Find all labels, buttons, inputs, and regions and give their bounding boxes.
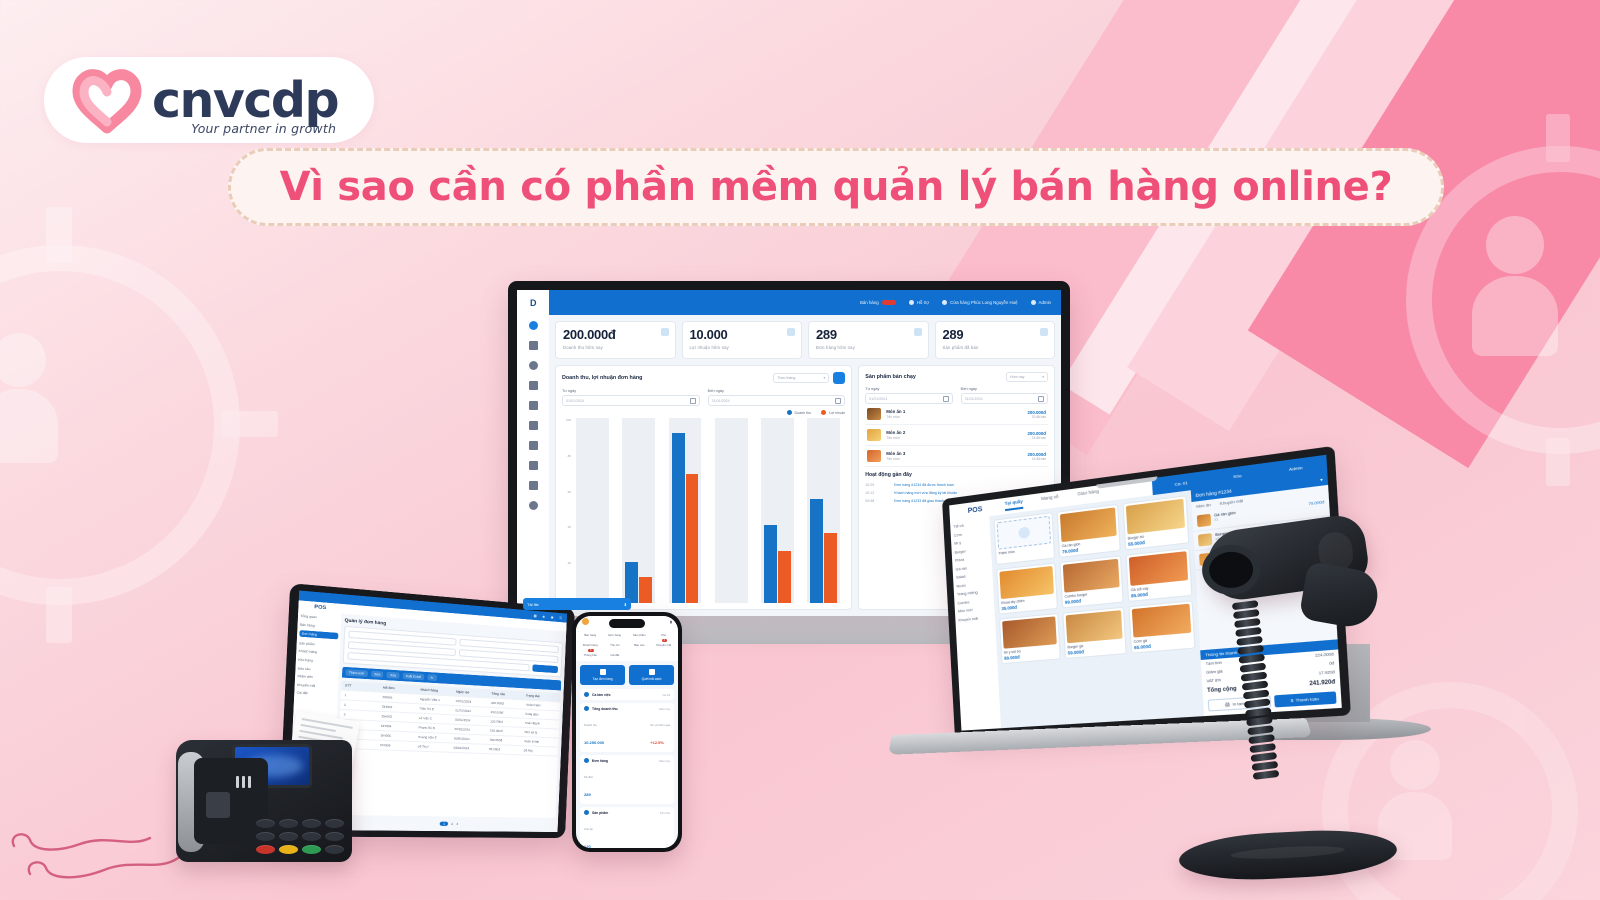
cancel-key[interactable] bbox=[256, 845, 275, 854]
activity-text: Khách hàng mới vừa đăng ký tài khoản bbox=[894, 491, 957, 495]
scanner-handle bbox=[1299, 561, 1382, 631]
shortcut-cài-đặt[interactable]: Cài đặt bbox=[604, 651, 627, 657]
header-item-sales-label: Bán hàng bbox=[860, 300, 879, 305]
table-cell: DH005 bbox=[381, 733, 416, 739]
chart-period-value: Theo tháng bbox=[777, 376, 795, 380]
to-input[interactable]: 31/01/2024 bbox=[708, 395, 846, 406]
toolbar-in[interactable]: In bbox=[427, 674, 436, 681]
toolbar-thêm-mới[interactable]: Thêm mới bbox=[345, 669, 367, 677]
product-card[interactable]: Mì ý sốt bò89.000đ bbox=[999, 613, 1061, 664]
column-header: Tổng tiền bbox=[491, 692, 524, 698]
product-thumbnail bbox=[867, 408, 881, 420]
key[interactable] bbox=[256, 832, 275, 841]
header-item-sales[interactable]: Bán hàng bbox=[860, 300, 896, 305]
card-meta: Ca 01 bbox=[663, 693, 670, 697]
table-cell: 120.000đ bbox=[490, 719, 523, 725]
chart-controls: Theo tháng ▾ bbox=[773, 372, 845, 384]
bar-doanh-thu bbox=[810, 499, 823, 603]
pos-category-mì-ý[interactable]: Mì ý bbox=[954, 538, 988, 546]
summary-card[interactable]: Sản phẩmTồn khoCòn lại120 bbox=[580, 807, 674, 848]
box-icon bbox=[1040, 328, 1048, 336]
list-date-from: Từ ngày 01/01/2024 bbox=[865, 387, 952, 404]
bar-group bbox=[571, 418, 614, 603]
terminal-keypad[interactable] bbox=[256, 819, 344, 854]
table-cell: Hoàn thành bbox=[525, 721, 557, 727]
product-card[interactable]: Combo burger99.000đ bbox=[1059, 555, 1123, 608]
product-card[interactable]: Khoai tây chiên35.000đ bbox=[996, 563, 1058, 615]
legend-label: Lợi nhuận bbox=[829, 411, 845, 415]
pos-user[interactable]: Admin bbox=[1289, 464, 1303, 471]
table-cell: Hoàng Văn E bbox=[418, 735, 452, 741]
table-cell: Phạm Thị D bbox=[418, 725, 452, 731]
card-header: Sản phẩmTồn kho bbox=[584, 810, 670, 815]
bar-doanh-thu bbox=[764, 525, 777, 603]
from-input[interactable]: 01/01/2024 bbox=[865, 393, 952, 404]
table-cell: 450.000đ bbox=[491, 710, 524, 716]
shortcut-label: Thu chi bbox=[604, 643, 627, 647]
phone-card-list: Ca làm việcCa 01Tổng doanh thuHôm nayDoa… bbox=[576, 689, 678, 848]
sidebar-item-orders[interactable] bbox=[529, 341, 538, 350]
refresh-icon[interactable] bbox=[833, 372, 845, 384]
table-cell: 01/01/2024 bbox=[455, 708, 488, 714]
table-cell: DH003 bbox=[382, 714, 417, 720]
product-thumbnail bbox=[867, 429, 881, 441]
chevron-down-icon: ▾ bbox=[1042, 375, 1044, 379]
add-product-card[interactable]: Thêm món bbox=[994, 512, 1056, 565]
product-qty: 18 đã bán bbox=[1027, 436, 1046, 440]
battery-icon: ▮ bbox=[670, 620, 672, 624]
card-title: Đơn hàng bbox=[584, 758, 608, 763]
key[interactable] bbox=[279, 819, 298, 828]
topbar-icon[interactable]: ☰ bbox=[559, 615, 562, 619]
profit-icon bbox=[787, 328, 795, 336]
admin-nav-sản-phẩm[interactable]: Sản phẩm bbox=[299, 641, 338, 648]
product-info: Món ăn 1 Tên món bbox=[886, 409, 1022, 419]
clock-icon bbox=[909, 300, 914, 305]
shortcut-label: Sản phẩm bbox=[628, 633, 651, 637]
pos-store[interactable]: Kho bbox=[1233, 472, 1242, 479]
sidebar-item-settings[interactable] bbox=[529, 481, 538, 490]
key[interactable] bbox=[302, 819, 321, 828]
table-cell: Lê Văn C bbox=[419, 716, 453, 722]
product-price: 200.000đ bbox=[1027, 410, 1046, 415]
pos-category-tất-cả[interactable]: Tất cả bbox=[953, 521, 987, 529]
chart-date-to: Đến ngày 31/01/2024 bbox=[708, 389, 846, 406]
table-cell: Chờ xử lý bbox=[524, 730, 556, 735]
product-thumbnail bbox=[867, 450, 881, 462]
pos-category-khuyến-mãi[interactable]: Khuyến mãi bbox=[958, 615, 992, 622]
clear-key[interactable] bbox=[279, 845, 298, 854]
product-price: 200.000đ bbox=[1027, 431, 1046, 436]
activity-time: 09:58 bbox=[865, 499, 889, 503]
shortcut-khuyến-mãi[interactable]: Khuyến mãi3 bbox=[653, 641, 676, 647]
product-qty: 15 đã bán bbox=[1027, 457, 1046, 461]
from-value: 01/01/2024 bbox=[869, 397, 887, 401]
tab-mang-ve[interactable]: Mang về bbox=[1041, 494, 1059, 507]
store-icon bbox=[942, 300, 947, 305]
legend-item-revenue: Doanh thu bbox=[787, 410, 812, 415]
product-image bbox=[1002, 616, 1057, 648]
page-3[interactable]: 3 bbox=[456, 822, 458, 826]
admin-nav-kho-hàng[interactable]: Kho hàng bbox=[298, 657, 337, 664]
kpi-label: Đơn hàng hôm nay bbox=[816, 345, 921, 350]
column-header: Mã đơn bbox=[383, 685, 418, 691]
table-cell: Nguyễn Văn A bbox=[419, 697, 453, 703]
page-1[interactable]: 1 bbox=[440, 822, 448, 826]
table-cell: Vũ Thị F bbox=[417, 744, 451, 749]
pos-category-nước[interactable]: Nước bbox=[956, 580, 990, 588]
product-sub: Tên món bbox=[886, 415, 1022, 419]
header-item-support-label: Hỗ trợ bbox=[917, 300, 929, 305]
scanner-gooseneck bbox=[1232, 600, 1280, 787]
pos-category-món-mới[interactable]: Món mới bbox=[958, 606, 992, 613]
key[interactable] bbox=[302, 832, 321, 841]
sidebar-item-store[interactable] bbox=[529, 381, 538, 390]
product-card[interactable]: Burger bò55.000đ bbox=[1122, 495, 1189, 550]
shortcut-label: Khách hàng bbox=[579, 643, 602, 647]
pos-category-combo[interactable]: Combo bbox=[957, 598, 991, 605]
kpi-value: 289 bbox=[816, 327, 921, 342]
to-label: Đến ngày bbox=[961, 387, 1048, 391]
product-metrics: 200.000đ 18 đã bán bbox=[1027, 431, 1046, 440]
pos-product-grid: Thêm mónGà rán giòn79.000đBurger bò55.00… bbox=[989, 490, 1204, 728]
confirm-key[interactable] bbox=[302, 845, 321, 854]
chart-period-select[interactable]: Theo tháng ▾ bbox=[773, 373, 829, 383]
dashboard-logo[interactable]: D bbox=[517, 290, 549, 315]
chart-plot-area bbox=[571, 418, 845, 603]
card-header: Ca làm việcCa 01 bbox=[584, 692, 670, 697]
table-cell: 02/01/2024 bbox=[454, 727, 487, 733]
table-cell: DH002 bbox=[382, 705, 417, 711]
list-period-value: Hôm nay bbox=[1010, 375, 1024, 379]
pos-shift[interactable]: Ca: 01 bbox=[1174, 479, 1188, 486]
kpi-label: Lợi nhuận hôm nay bbox=[690, 345, 795, 350]
shortcut-label: Khuyến mãi bbox=[653, 643, 676, 647]
calendar-icon bbox=[943, 396, 949, 402]
sidebar-item-promotion[interactable] bbox=[529, 461, 538, 470]
table-cell: 02/01/2024 bbox=[455, 718, 488, 724]
table-cell: 01/01/2024 bbox=[456, 699, 489, 705]
table-cell: 310.000đ bbox=[490, 728, 523, 733]
table-cell: 95.000đ bbox=[489, 747, 522, 752]
card-metrics: Số đơn289 bbox=[584, 765, 670, 801]
topbar-icon[interactable]: ▦ bbox=[534, 613, 537, 617]
key[interactable] bbox=[325, 832, 344, 841]
to-input[interactable]: 31/01/2024 bbox=[961, 393, 1048, 404]
product-qty: 20 đã bán bbox=[1027, 415, 1046, 419]
smartphone-device: 10:24 ▮ Bán hàngĐơn hàngSản phẩmKhoKhách… bbox=[572, 612, 682, 852]
summary-card[interactable]: Tổng doanh thuHôm nayDoanh thu10.250.000… bbox=[580, 703, 674, 752]
pos-category-salad[interactable]: Salad bbox=[956, 572, 990, 580]
bar-group bbox=[663, 418, 706, 603]
download-button[interactable]: Tải file ⬇ bbox=[549, 598, 631, 610]
toolbar-xóa[interactable]: Xóa bbox=[387, 672, 400, 679]
cart-icon bbox=[882, 300, 896, 305]
shortcut-kho[interactable]: Kho bbox=[653, 631, 676, 637]
product-image bbox=[1126, 499, 1185, 535]
to-value: 31/01/2024 bbox=[965, 397, 983, 401]
bar-group bbox=[802, 418, 845, 603]
product-info: Món ăn 3 Tên món bbox=[886, 451, 1022, 461]
scan-barcode-label: Quét mã vạch bbox=[642, 677, 662, 681]
column-header: Khách hàng bbox=[420, 687, 454, 693]
table-cell: Hoàn thành bbox=[525, 703, 557, 709]
kpi-card-orders: 289 Đơn hàng hôm nay bbox=[808, 321, 929, 359]
product-sub: Tên món bbox=[886, 436, 1022, 440]
list-title: Sản phẩm bán chạy bbox=[865, 374, 916, 380]
sidebar-item-dashboard[interactable] bbox=[529, 321, 538, 330]
admin-nav-khuyến-mãi[interactable]: Khuyến mãi bbox=[297, 682, 336, 689]
list-period-select[interactable]: Hôm nay ▾ bbox=[1006, 372, 1048, 382]
create-order-button[interactable]: Tạo đơn hàng bbox=[580, 665, 625, 685]
calendar-icon bbox=[835, 398, 841, 404]
from-input[interactable]: 01/01/2024 bbox=[562, 395, 700, 406]
product-row[interactable]: Món ăn 3 Tên món 200.000đ 15 đã bán bbox=[865, 446, 1048, 467]
table-cell: 780.000đ bbox=[489, 738, 522, 743]
product-row[interactable]: Món ăn 2 Tên món 200.000đ 18 đã bán bbox=[865, 425, 1048, 446]
shortcut-label: Cài đặt bbox=[604, 653, 627, 657]
table-cell: 03/01/2024 bbox=[454, 736, 487, 741]
bar-doanh-thu bbox=[625, 562, 638, 603]
card-title: Ca làm việc bbox=[584, 692, 611, 697]
kpi-card-profit: 10.000 Lợi nhuận hôm nay bbox=[682, 321, 803, 359]
header-item-store[interactable]: Cửa hàng Phúc Long Nguyễn Huệ bbox=[942, 300, 1017, 305]
phone-bezel: 10:24 ▮ Bán hàngĐơn hàngSản phẩmKhoKhách… bbox=[572, 612, 682, 852]
card-header: Đơn hàngHôm nay bbox=[584, 758, 670, 763]
admin-nav-đơn-hàng[interactable]: Đơn hàng bbox=[299, 630, 338, 639]
chevron-down-icon[interactable]: ▾ bbox=[1320, 477, 1323, 483]
chevron-down-icon: ▾ bbox=[823, 376, 825, 380]
legend-item-profit: Lợi nhuận bbox=[821, 410, 845, 415]
plus-icon bbox=[600, 669, 606, 675]
phone-action-buttons: Tạo đơn hàng Quét mã vạch bbox=[576, 661, 678, 689]
table-cell: DH006 bbox=[380, 743, 415, 749]
kpi-row: 200.000đ Doanh thu hôm nay 10.000 Lợi nh… bbox=[555, 321, 1055, 359]
shortcut-đơn-hàng[interactable]: Đơn hàng bbox=[604, 631, 627, 637]
table-cell: Trần Thị B bbox=[419, 706, 453, 712]
product-card[interactable]: Burger gà59.000đ bbox=[1062, 607, 1126, 659]
activity-time: 10:25 bbox=[865, 483, 889, 487]
dashboard-topbar: D Bán hàng Hỗ trợ bbox=[517, 290, 1061, 315]
kpi-label: Doanh thu hôm nay bbox=[563, 345, 668, 350]
column-header: Trạng thái bbox=[526, 693, 558, 699]
metric-1: Doanh thu10.250.000 bbox=[584, 713, 604, 749]
pos-category-tráng-miệng[interactable]: Tráng miệng bbox=[957, 589, 991, 597]
product-image bbox=[1060, 507, 1117, 542]
bar-lợi-nhuận bbox=[778, 551, 791, 603]
product-card[interactable]: Gà rán giòn79.000đ bbox=[1057, 504, 1121, 558]
metric-2: So với hôm qua+12.5% bbox=[650, 713, 670, 749]
gooseneck-segment bbox=[1253, 770, 1280, 780]
product-image bbox=[1129, 551, 1188, 586]
key[interactable] bbox=[325, 845, 344, 854]
table-cell: DH001 bbox=[382, 695, 417, 701]
admin-nav-bán-hàng[interactable]: Bán hàng bbox=[300, 622, 339, 629]
status-dot-icon bbox=[584, 692, 589, 697]
card-header: Tổng doanh thuHôm nay bbox=[584, 706, 670, 711]
chart-panel-header: Doanh thu, lợi nhuận đơn hàng Theo tháng… bbox=[562, 372, 845, 384]
scan-barcode-button[interactable]: Quét mã vạch bbox=[629, 665, 674, 685]
bar-lợi-nhuận bbox=[686, 474, 699, 604]
bar-chart: 100 80 60 40 20 0 bbox=[562, 418, 845, 603]
admin-nav-cài-đặt[interactable]: Cài đặt bbox=[297, 691, 336, 697]
badge: 5 bbox=[588, 649, 593, 652]
scanner-base bbox=[1178, 826, 1398, 883]
pos-category-cơm[interactable]: Cơm bbox=[954, 529, 988, 537]
kpi-label: Sản phẩm đã bán bbox=[943, 345, 1048, 350]
activity-time: 10:12 bbox=[865, 491, 889, 495]
product-name: Món ăn 2 bbox=[886, 430, 1022, 435]
shortcut-khách-hàng[interactable]: Khách hàng bbox=[579, 641, 602, 647]
shortcut-label: Bán hàng bbox=[579, 633, 602, 637]
from-label: Từ ngày bbox=[562, 389, 700, 393]
phone-screen: 10:24 ▮ Bán hàngĐơn hàngSản phẩmKhoKhách… bbox=[576, 616, 678, 848]
product-image bbox=[1063, 559, 1120, 593]
chart-y-axis: 100 80 60 40 20 0 bbox=[562, 418, 571, 603]
shortcut-thông-báo[interactable]: Thông báo5 bbox=[579, 651, 602, 657]
table-cell: DH004 bbox=[381, 724, 416, 730]
header-item-store-label: Cửa hàng Phúc Long Nguyễn Huệ bbox=[950, 300, 1017, 305]
status-dot-icon bbox=[584, 810, 589, 815]
sidebar-item-reports[interactable] bbox=[529, 401, 538, 410]
tab-tai-quay[interactable]: Tại quầy bbox=[1005, 499, 1024, 512]
sidebar-item-customers[interactable] bbox=[529, 441, 538, 450]
product-card[interactable]: Gà sốt cay85.000đ bbox=[1125, 548, 1192, 603]
toolbar-xuất-excel[interactable]: Xuất Excel bbox=[402, 673, 424, 681]
card-slot-icon bbox=[206, 792, 230, 818]
barcode-icon bbox=[649, 669, 655, 675]
kpi-card-products: 289 Sản phẩm đã bán bbox=[935, 321, 1056, 359]
table-cell: 200.000đ bbox=[491, 701, 524, 707]
key[interactable] bbox=[256, 819, 275, 828]
badge: 3 bbox=[662, 639, 667, 642]
chart-title: Doanh thu, lợi nhuận đơn hàng bbox=[562, 375, 642, 381]
topbar-icon[interactable]: ◈ bbox=[542, 614, 545, 618]
product-name: Món ăn 1 bbox=[886, 409, 1022, 414]
chart-date-from: Từ ngày 01/01/2024 bbox=[562, 389, 700, 406]
summary-card[interactable]: Ca làm việcCa 01 bbox=[580, 689, 674, 700]
dashboard-sidebar bbox=[517, 315, 549, 616]
sidebar-item-inventory[interactable] bbox=[529, 421, 538, 430]
product-metrics: 200.000đ 15 đã bán bbox=[1027, 452, 1046, 461]
topbar-icon[interactable]: ◉ bbox=[551, 615, 554, 619]
table-cell: 03/01/2024 bbox=[454, 746, 487, 751]
admin-nav-nhân-viên[interactable]: Nhân viên bbox=[297, 674, 336, 681]
shortcut-báo-cáo[interactable]: Báo cáo bbox=[628, 641, 651, 647]
to-label: Đến ngày bbox=[708, 389, 846, 393]
shortcut-thu-chi[interactable]: Thu chi bbox=[604, 641, 627, 647]
product-row[interactable]: Món ăn 1 Tên món 200.000đ 20 đã bán bbox=[865, 404, 1048, 425]
admin-nav-báo-cáo[interactable]: Báo cáo bbox=[298, 666, 337, 673]
bar-lợi-nhuận bbox=[639, 577, 652, 603]
tab-giao-hang[interactable]: Giao hàng bbox=[1077, 488, 1099, 501]
summary-card[interactable]: Đơn hàngHôm naySố đơn289 bbox=[580, 755, 674, 804]
dynamic-island bbox=[609, 619, 645, 628]
card-meta: Hôm nay bbox=[659, 759, 670, 763]
bar-group bbox=[756, 418, 799, 603]
pos-category-pizza[interactable]: Pizza bbox=[955, 555, 989, 563]
table-cell: Đã hủy bbox=[523, 748, 555, 753]
scanner-window bbox=[1201, 544, 1261, 596]
product-image bbox=[999, 566, 1054, 599]
list-date-to: Đến ngày 31/01/2024 bbox=[961, 387, 1048, 404]
column-header: Ngày tạo bbox=[456, 689, 489, 695]
product-image bbox=[1132, 604, 1191, 638]
orders-icon bbox=[914, 328, 922, 336]
phone-shortcut-grid: Bán hàngĐơn hàngSản phẩmKhoKhách hàngThu… bbox=[576, 627, 678, 661]
admin-nav-tổng-quan[interactable]: Tổng quan bbox=[300, 614, 339, 621]
toolbar-sửa[interactable]: Sửa bbox=[371, 671, 384, 678]
create-order-label: Tạo đơn hàng bbox=[593, 677, 613, 681]
user-icon bbox=[1031, 300, 1036, 305]
list-panel-header: Sản phẩm bán chạy Hôm nay ▾ bbox=[865, 372, 1048, 382]
chart-legend: Doanh thu Lợi nhuận bbox=[562, 410, 845, 415]
download-icon: ⬇ bbox=[624, 602, 627, 607]
sidebar-item-products[interactable] bbox=[529, 361, 538, 370]
status-dot-icon bbox=[584, 706, 589, 711]
user-avatar[interactable] bbox=[582, 618, 589, 625]
key[interactable] bbox=[279, 832, 298, 841]
calendar-icon bbox=[1038, 396, 1044, 402]
card-metrics: Doanh thu10.250.000So với hôm qua+12.5% bbox=[584, 713, 670, 749]
header-item-user[interactable]: Admin bbox=[1031, 300, 1051, 305]
card-payment-terminal bbox=[168, 718, 373, 883]
device-stage: D Bán hàng Hỗ trợ bbox=[0, 0, 1600, 900]
shortcut-label: Kho bbox=[653, 633, 676, 637]
legend-swatch bbox=[787, 410, 792, 415]
kpi-value: 200.000đ bbox=[563, 327, 668, 342]
product-image bbox=[1066, 610, 1123, 643]
revenue-icon bbox=[661, 328, 669, 336]
to-value: 31/01/2024 bbox=[712, 399, 730, 403]
legend-swatch bbox=[821, 410, 826, 415]
card-meta: Tồn kho bbox=[660, 811, 670, 815]
product-sub: Tên món bbox=[886, 457, 1022, 461]
terminal-leds bbox=[236, 776, 251, 788]
shortcut-bán-hàng[interactable]: Bán hàng bbox=[579, 631, 602, 637]
revenue-chart-panel: Doanh thu, lợi nhuận đơn hàng Theo tháng… bbox=[555, 365, 852, 610]
plus-icon bbox=[997, 516, 1051, 550]
bar-lợi-nhuận bbox=[824, 533, 837, 603]
table-cell: 1 bbox=[344, 693, 380, 699]
shortcut-label: Đơn hàng bbox=[604, 633, 627, 637]
product-info: Món ăn 2 Tên món bbox=[886, 430, 1022, 440]
status-dot-icon bbox=[584, 758, 589, 763]
product-name: Món ăn 3 bbox=[886, 451, 1022, 456]
metric-1: Số đơn289 bbox=[584, 765, 593, 801]
legend-label: Doanh thu bbox=[795, 411, 812, 415]
shortcut-sản-phẩm[interactable]: Sản phẩm bbox=[628, 631, 651, 637]
sidebar-item-help[interactable] bbox=[529, 501, 538, 510]
page-2[interactable]: 2 bbox=[451, 822, 453, 826]
terminal-shell bbox=[176, 740, 352, 862]
table-cell: Đang giao bbox=[525, 712, 557, 718]
search-button[interactable] bbox=[532, 664, 558, 673]
pos-category-gà-rán[interactable]: Gà rán bbox=[955, 563, 989, 571]
header-item-support[interactable]: Hỗ trợ bbox=[909, 300, 929, 305]
chart-date-range: Từ ngày 01/01/2024 Đến ngày bbox=[562, 389, 845, 406]
card-meta: Hôm nay bbox=[659, 707, 670, 711]
pos-category-burger[interactable]: Burger bbox=[955, 546, 989, 554]
product-price: 200.000đ bbox=[1027, 452, 1046, 457]
kpi-value: 289 bbox=[943, 327, 1048, 342]
activity-text: Đơn hàng #1234 đã được thanh toán bbox=[894, 483, 953, 487]
key[interactable] bbox=[325, 819, 344, 828]
product-metrics: 200.000đ 20 đã bán bbox=[1027, 410, 1046, 419]
activity-title: Hoạt động gần đây bbox=[865, 472, 1048, 478]
calendar-icon bbox=[690, 398, 696, 404]
admin-nav-khách-hàng[interactable]: Khách hàng bbox=[299, 649, 338, 656]
